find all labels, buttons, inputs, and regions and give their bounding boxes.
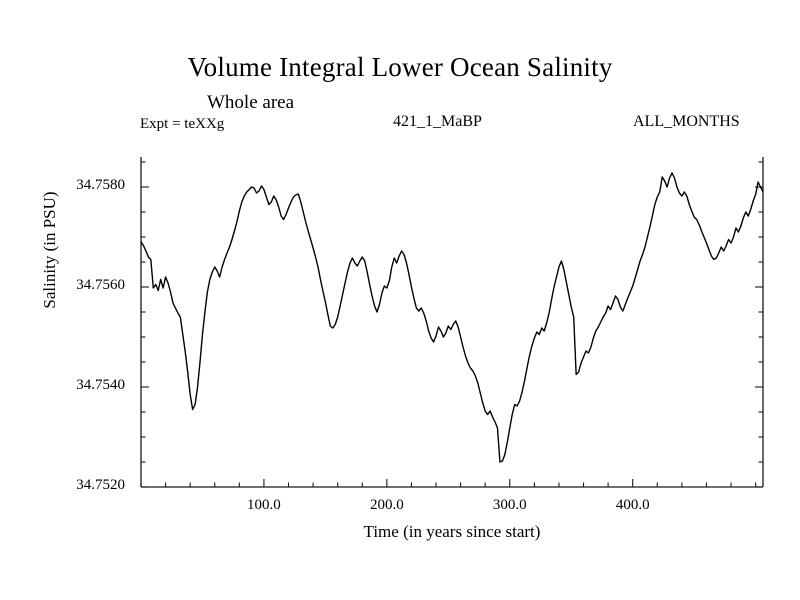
x-tick-label: 200.0	[347, 497, 427, 514]
y-tick-label: 34.7560	[45, 277, 125, 294]
y-axis-label: Salinity (in PSU)	[40, 140, 60, 360]
y-tick-label: 34.7580	[45, 177, 125, 194]
x-tick-label: 300.0	[470, 497, 550, 514]
y-tick-label: 34.7540	[45, 377, 125, 394]
y-tick-label: 34.7520	[45, 477, 125, 494]
axis-frame	[141, 157, 763, 487]
axis-ticks	[141, 162, 763, 487]
x-tick-label: 100.0	[224, 497, 304, 514]
data-series	[141, 173, 763, 462]
x-axis-label: Time (in years since start)	[141, 522, 763, 542]
x-tick-label: 400.0	[593, 497, 673, 514]
chart-page: Volume Integral Lower Ocean Salinity Who…	[0, 0, 800, 600]
series-line	[141, 173, 763, 462]
